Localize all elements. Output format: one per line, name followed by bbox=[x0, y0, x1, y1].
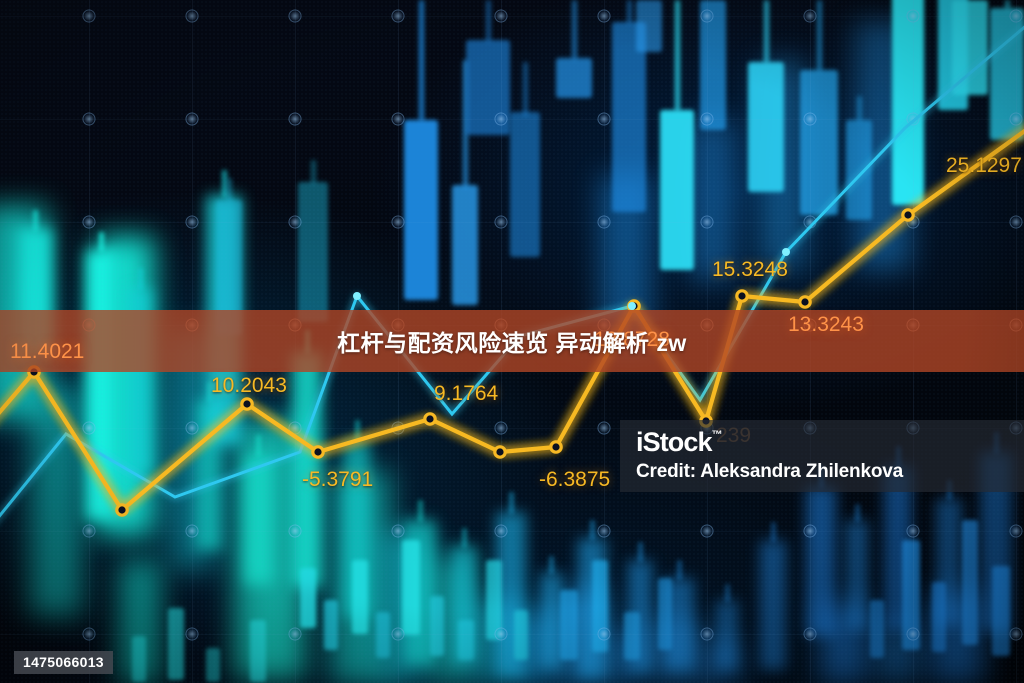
trademark-icon: ™ bbox=[712, 430, 723, 441]
stock-image-canvas: 239 11.402110.2043-5.37919.1764-6.387512… bbox=[0, 0, 1024, 683]
value-label-251297: 25.1297 bbox=[946, 154, 1022, 178]
value-label-91764: 9.1764 bbox=[434, 382, 498, 406]
istock-logo-text: iStock bbox=[636, 429, 712, 456]
value-label-53791: -5.3791 bbox=[302, 468, 373, 492]
istock-watermark: iStock ™ Credit: Aleksandra Zhilenkova bbox=[620, 420, 1024, 492]
value-label-102043: 10.2043 bbox=[211, 374, 287, 398]
istock-logo: iStock ™ bbox=[636, 429, 1024, 456]
value-label-153248: 15.3248 bbox=[712, 258, 788, 282]
credit-text: Credit: Aleksandra Zhilenkova bbox=[636, 461, 1024, 483]
page-title: 杠杆与配资风险速览 异动解析 zw bbox=[0, 310, 1024, 372]
asset-id-badge: 1475066013 bbox=[14, 651, 113, 674]
value-label-63875: -6.3875 bbox=[539, 468, 610, 492]
